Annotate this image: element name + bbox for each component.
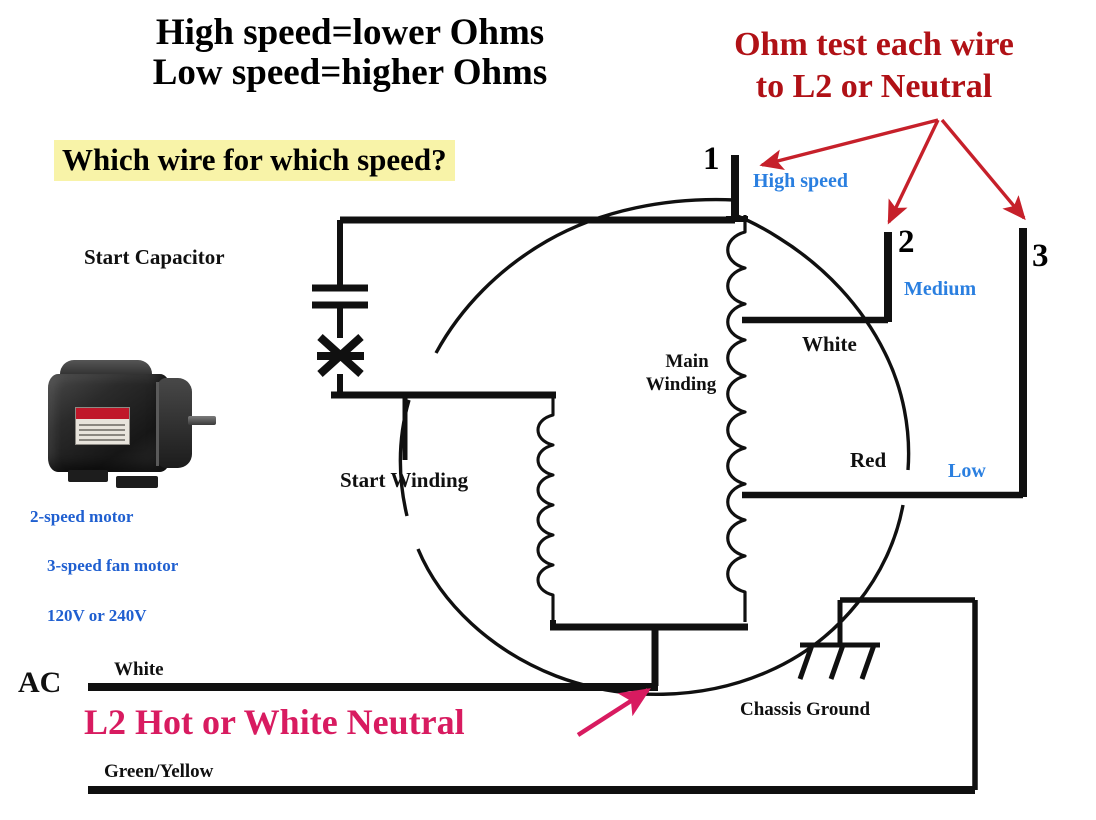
ac-label: AC xyxy=(18,668,61,699)
motor-note-line2: 3-speed fan motor xyxy=(47,556,178,575)
start-capacitor-label: Start Capacitor xyxy=(84,247,225,268)
main-winding-label-line2: Winding xyxy=(620,375,742,394)
motor-note-line3: 120V or 240V xyxy=(47,606,147,625)
arrow-to-terminal-2 xyxy=(889,120,938,222)
motor-foot-right xyxy=(116,476,158,488)
capacitor-icon xyxy=(312,288,368,305)
motor-photo xyxy=(30,352,215,492)
chassis-ground-label: Chassis Ground xyxy=(740,700,870,719)
motor-note: 2-speed motor 3-speed fan motor 120V or … xyxy=(30,505,178,653)
heading-high-speed-rule: High speed=lower Ohms xyxy=(60,14,640,52)
ac-white-wire-label: White xyxy=(114,660,164,679)
heading-low-speed-rule: Low speed=higher Ohms xyxy=(60,54,640,92)
motor-note-line1: 2-speed motor xyxy=(30,507,133,526)
start-winding-coil xyxy=(538,395,553,620)
terminal-2-speed-label: Medium xyxy=(904,279,976,299)
start-winding-label: Start Winding xyxy=(340,470,468,491)
motor-foot-left xyxy=(68,470,108,482)
main-winding-label-line1: Main xyxy=(632,352,742,371)
red-tap-label: Red xyxy=(850,450,886,471)
motor-endbell xyxy=(158,378,192,468)
terminal-3-speed-label: Low xyxy=(948,461,986,481)
ohm-test-heading-line1: Ohm test each wire xyxy=(664,28,1084,62)
ac-ground-wire-label: Green/Yellow xyxy=(104,762,213,781)
white-tap-label: White xyxy=(802,334,857,355)
chassis-ground-icon xyxy=(800,645,880,679)
l2-neutral-callout: L2 Hot or White Neutral xyxy=(84,704,465,741)
motor-nameplate xyxy=(75,407,130,445)
ohm-test-heading-line2: to L2 or Neutral xyxy=(664,70,1084,104)
x-switch-icon xyxy=(317,337,364,374)
motor-frame-circle xyxy=(400,200,908,695)
terminal-1-number: 1 xyxy=(703,143,720,177)
motor-shaft xyxy=(188,416,216,425)
motor-ring xyxy=(156,382,159,466)
question-highlight: Which wire for which speed? xyxy=(38,128,455,192)
nameplate-brand-bar xyxy=(76,408,129,419)
wiring-diagram-canvas: High speed=lower Ohms Low speed=higher O… xyxy=(0,0,1096,820)
arrow-to-neutral xyxy=(578,690,648,735)
terminal-3-number: 3 xyxy=(1032,240,1049,274)
question-text: Which wire for which speed? xyxy=(54,140,455,181)
terminal-1-speed-label: High speed xyxy=(753,171,848,191)
arrow-to-terminal-1 xyxy=(762,120,938,165)
arrow-to-terminal-3 xyxy=(942,120,1024,218)
terminal-2-number: 2 xyxy=(898,226,915,260)
main-winding-coil xyxy=(728,215,745,622)
